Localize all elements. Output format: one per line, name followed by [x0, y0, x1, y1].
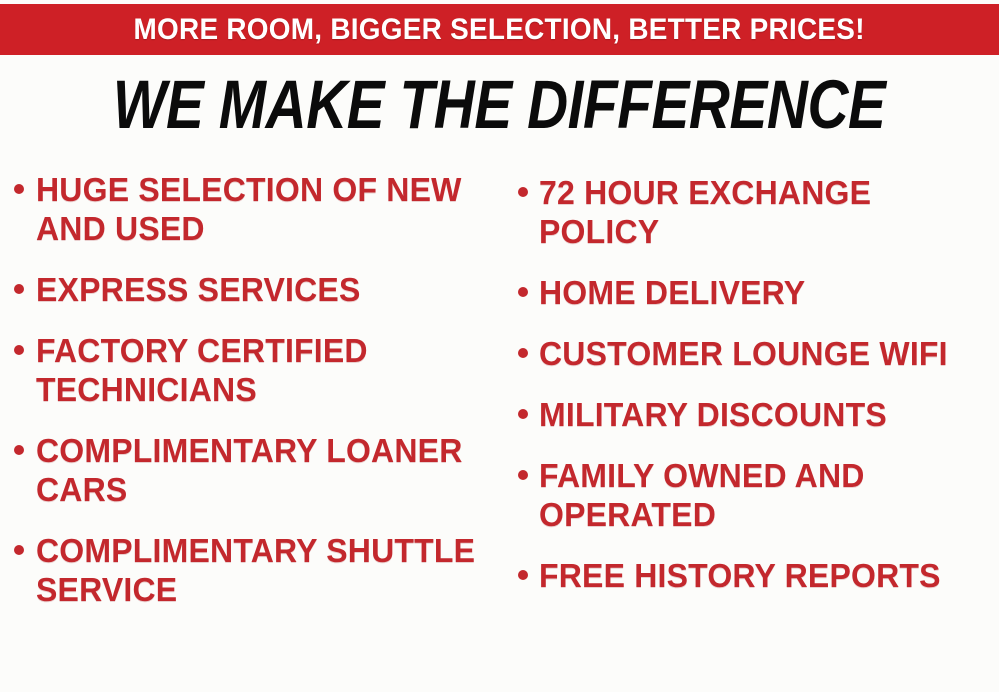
list-item-label: 72 HOUR EXCHANGE POLICY: [539, 173, 985, 251]
benefits-columns: HUGE SELECTION OF NEW AND USED EXPRESS S…: [0, 160, 999, 692]
main-headline-text: WE MAKE THE DIFFERENCE: [113, 70, 886, 139]
list-item-label: CUSTOMER LOUNGE WIFI: [539, 334, 948, 373]
list-item: FACTORY CERTIFIED TECHNICIANS: [14, 331, 505, 409]
bullet-dot-icon: [518, 409, 528, 419]
bullet-dot-icon: [518, 570, 528, 580]
list-item-label: FAMILY OWNED AND OPERATED: [539, 456, 985, 534]
main-headline: WE MAKE THE DIFFERENCE: [0, 70, 999, 136]
bullet-dot-icon: [14, 184, 24, 194]
top-banner: MORE ROOM, BIGGER SELECTION, BETTER PRIC…: [0, 4, 999, 55]
list-item-label: HUGE SELECTION OF NEW AND USED: [36, 170, 491, 248]
bullet-dot-icon: [518, 348, 528, 358]
list-item: HUGE SELECTION OF NEW AND USED: [14, 170, 505, 248]
benefits-column-left: HUGE SELECTION OF NEW AND USED EXPRESS S…: [0, 160, 505, 631]
list-item: MILITARY DISCOUNTS: [518, 395, 999, 434]
list-item: 72 HOUR EXCHANGE POLICY: [518, 173, 999, 251]
bullet-dot-icon: [14, 445, 24, 455]
bullet-dot-icon: [14, 345, 24, 355]
bullet-dot-icon: [14, 284, 24, 294]
promotional-poster: MORE ROOM, BIGGER SELECTION, BETTER PRIC…: [0, 0, 999, 692]
banner-headline-text: MORE ROOM, BIGGER SELECTION, BETTER PRIC…: [134, 13, 865, 47]
list-item-label: FACTORY CERTIFIED TECHNICIANS: [36, 331, 491, 409]
bullet-dot-icon: [518, 287, 528, 297]
bullet-dot-icon: [518, 187, 528, 197]
list-item-label: HOME DELIVERY: [539, 273, 805, 312]
bullet-dot-icon: [14, 545, 24, 555]
list-item-label: FREE HISTORY REPORTS: [539, 556, 941, 595]
bullet-dot-icon: [518, 470, 528, 480]
benefits-column-right: 72 HOUR EXCHANGE POLICY HOME DELIVERY CU…: [505, 160, 999, 617]
list-item: FREE HISTORY REPORTS: [518, 556, 999, 595]
list-item-label: COMPLIMENTARY LOANER CARS: [36, 431, 491, 509]
list-item-label: COMPLIMENTARY SHUTTLE SERVICE: [36, 531, 491, 609]
list-item: EXPRESS SERVICES: [14, 270, 505, 309]
list-item: COMPLIMENTARY LOANER CARS: [14, 431, 505, 509]
list-item: FAMILY OWNED AND OPERATED: [518, 456, 999, 534]
list-item-label: EXPRESS SERVICES: [36, 270, 361, 309]
list-item-label: MILITARY DISCOUNTS: [539, 395, 887, 434]
list-item: COMPLIMENTARY SHUTTLE SERVICE: [14, 531, 505, 609]
list-item: CUSTOMER LOUNGE WIFI: [518, 334, 999, 373]
list-item: HOME DELIVERY: [518, 273, 999, 312]
